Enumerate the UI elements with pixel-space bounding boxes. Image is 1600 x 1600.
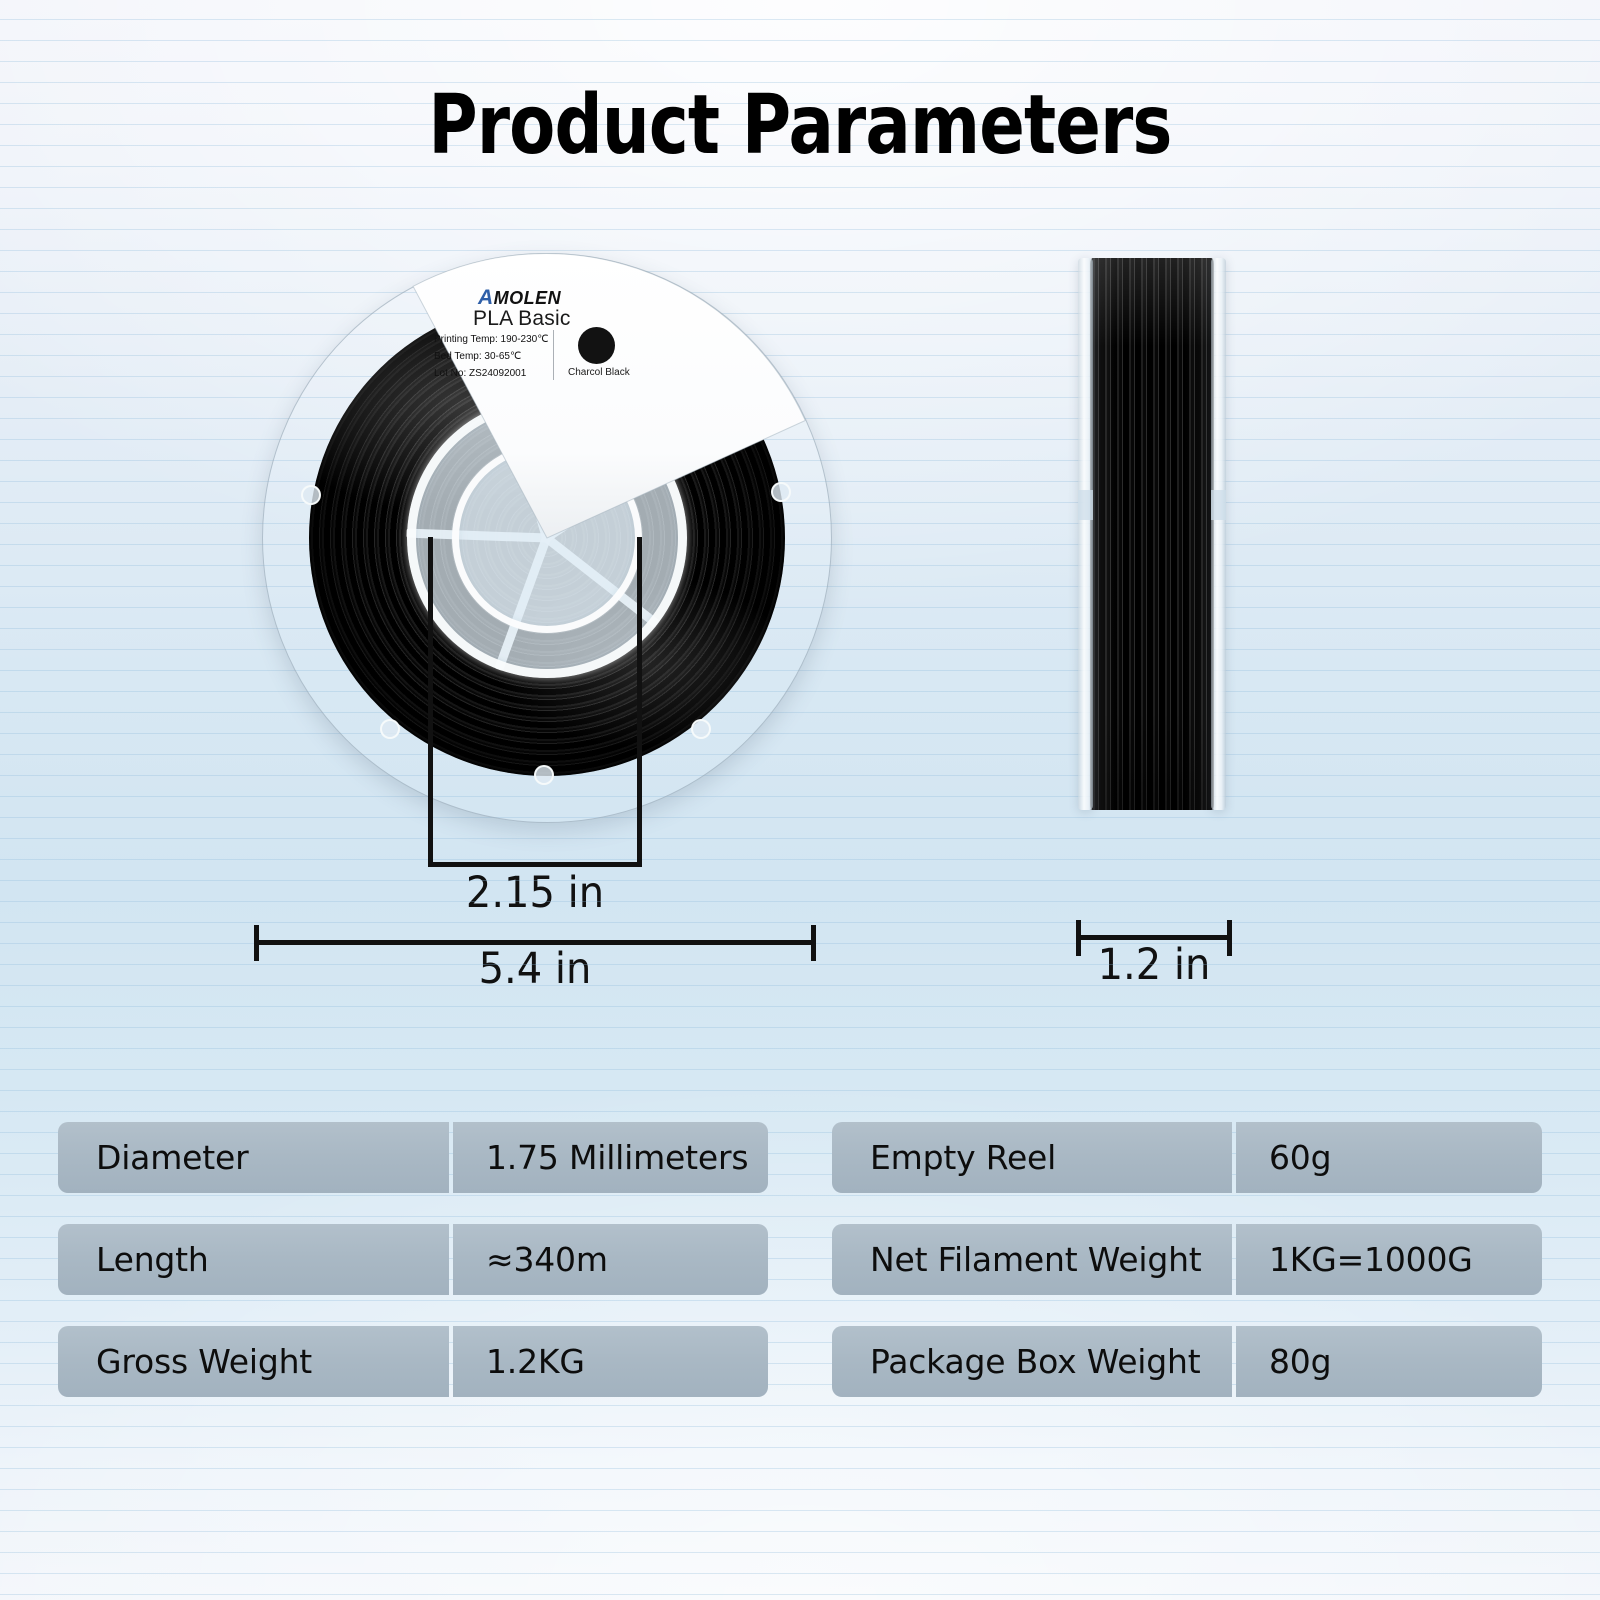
table-row: Length ≈340m Net Filament Weight 1KG=100… bbox=[58, 1224, 1542, 1295]
spec-value: 60g bbox=[1236, 1122, 1542, 1193]
spec-pair: Package Box Weight 80g bbox=[832, 1326, 1542, 1397]
spec-key: Length bbox=[58, 1224, 449, 1295]
flange-notch bbox=[1211, 490, 1226, 520]
spec-key: Empty Reel bbox=[832, 1122, 1232, 1193]
spec-value: 1.2KG bbox=[453, 1326, 768, 1397]
bracket-right-line bbox=[637, 537, 642, 867]
flange-notch bbox=[1078, 490, 1093, 520]
brand-name: MOLEN bbox=[494, 288, 562, 308]
spec-key: Diameter bbox=[58, 1122, 449, 1193]
label-lot-no: Lot No: ZS24092001 bbox=[434, 368, 526, 379]
infographic-canvas: Product Parameters bbox=[0, 0, 1600, 1600]
label-divider bbox=[553, 330, 554, 380]
spec-pair: Diameter 1.75 Millimeters bbox=[58, 1122, 768, 1193]
dimension-hub-width-label: 2.15 in bbox=[435, 868, 634, 918]
dim-bar bbox=[254, 940, 816, 945]
spec-pair: Empty Reel 60g bbox=[832, 1122, 1542, 1193]
product-name: PLA Basic bbox=[473, 307, 571, 331]
spec-value: 1KG=1000G bbox=[1236, 1224, 1542, 1295]
dimension-spool-width-line bbox=[1076, 920, 1232, 956]
spec-key: Gross Weight bbox=[58, 1326, 449, 1397]
brand-initial: A bbox=[478, 286, 494, 309]
dim-bar bbox=[1076, 935, 1232, 940]
spec-pair: Net Filament Weight 1KG=1000G bbox=[832, 1224, 1542, 1295]
spool-flange-left bbox=[1078, 258, 1093, 810]
spec-value: 1.75 Millimeters bbox=[453, 1122, 768, 1193]
spec-key: Package Box Weight bbox=[832, 1326, 1232, 1397]
spec-table: Diameter 1.75 Millimeters Empty Reel 60g… bbox=[58, 1122, 1542, 1428]
table-row: Gross Weight 1.2KG Package Box Weight 80… bbox=[58, 1326, 1542, 1397]
dim-cap-right bbox=[811, 925, 816, 961]
filament-highlight-side bbox=[1090, 258, 1214, 810]
bracket-bottom-bar bbox=[428, 862, 642, 867]
dim-cap-right bbox=[1227, 920, 1232, 956]
color-swatch bbox=[578, 327, 615, 364]
spec-pair: Length ≈340m bbox=[58, 1224, 768, 1295]
spec-value: 80g bbox=[1236, 1326, 1542, 1397]
spec-value: ≈340m bbox=[453, 1224, 768, 1295]
label-bed-temp: Bed Temp: 30-65℃ bbox=[434, 351, 521, 362]
filament-spool-side-view bbox=[1078, 258, 1226, 810]
dimension-hub-width-bracket bbox=[428, 537, 642, 867]
filament-coil-side bbox=[1090, 258, 1214, 810]
spool-flange-right bbox=[1211, 258, 1226, 810]
page-title: Product Parameters bbox=[144, 78, 1456, 173]
bracket-left-line bbox=[428, 537, 433, 867]
color-name: Charcol Black bbox=[568, 367, 630, 378]
spec-pair: Gross Weight 1.2KG bbox=[58, 1326, 768, 1397]
spec-key: Net Filament Weight bbox=[832, 1224, 1232, 1295]
table-row: Diameter 1.75 Millimeters Empty Reel 60g bbox=[58, 1122, 1542, 1193]
label-printing-temp: Printing Temp: 190-230℃ bbox=[434, 334, 548, 345]
dimension-spool-diameter-line bbox=[254, 925, 816, 961]
